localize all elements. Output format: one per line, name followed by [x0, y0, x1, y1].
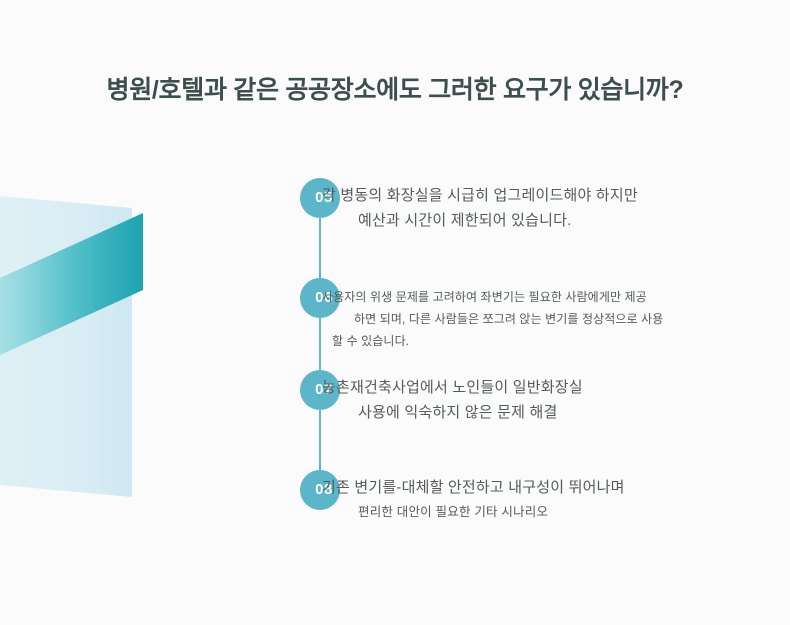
timeline-text-line: 사용자의 위생 문제를 고려하여 좌변기는 필요한 사람에게만 제공	[322, 286, 722, 308]
timeline: 05 각 병동의 화장실을 시급히 업그레이드해야 하지만 예산과 시간이 제한…	[0, 0, 790, 625]
timeline-text-05: 각 병동의 화장실을 시급히 업그레이드해야 하지만 예산과 시간이 제한되어 …	[322, 183, 722, 233]
timeline-text-line: 예산과 시간이 제한되어 있습니다.	[322, 208, 722, 233]
timeline-text-06: 사용자의 위생 문제를 고려하여 좌변기는 필요한 사람에게만 제공 하면 되며…	[322, 286, 722, 352]
timeline-connector-line	[319, 200, 321, 490]
timeline-text-07: 농촌재건축사업에서 노인들이 일반화장실 사용에 익숙하지 않은 문제 해결	[322, 375, 722, 425]
timeline-text-line: 할 수 있습니다.	[322, 330, 722, 352]
timeline-text-line: 편리한 대안이 필요한 기타 시나리오	[322, 500, 722, 524]
timeline-text-line: 농촌재건축사업에서 노인들이 일반화장실	[322, 375, 722, 400]
timeline-text-08: 기존 변기를-대체할 안전하고 내구성이 뛰어나며 편리한 대안이 필요한 기타…	[322, 475, 722, 524]
timeline-text-line: 사용에 익숙하지 않은 문제 해결	[322, 400, 722, 425]
timeline-text-line: 각 병동의 화장실을 시급히 업그레이드해야 하지만	[322, 183, 722, 208]
timeline-text-line: 하면 되며, 다른 사람들은 쪼그려 앉는 변기를 정상적으로 사용	[322, 308, 722, 330]
timeline-text-line: 기존 변기를-대체할 안전하고 내구성이 뛰어나며	[322, 475, 722, 500]
